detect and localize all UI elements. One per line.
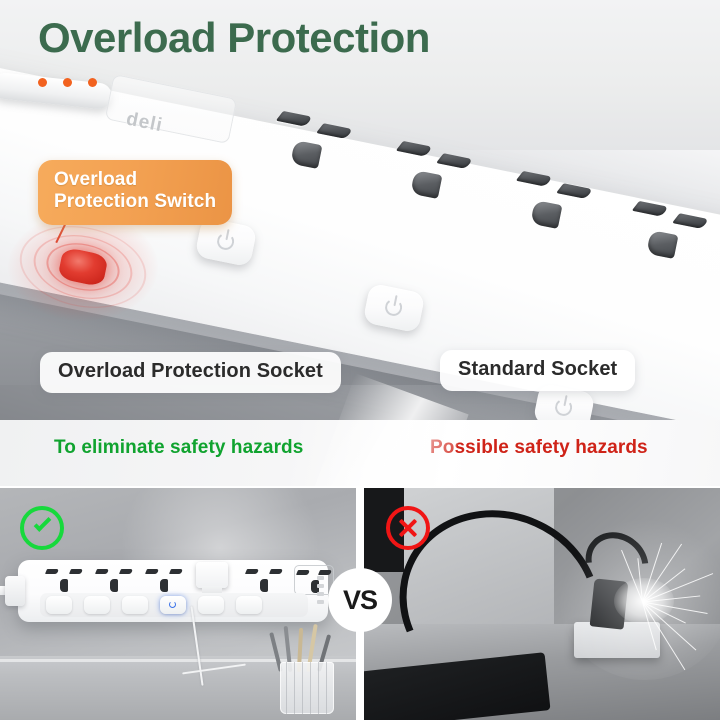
mini-switch-1[interactable] (46, 596, 72, 614)
mini-socket-6 (294, 565, 334, 595)
callout-line-2: Protection Switch (54, 191, 216, 213)
mini-socket-5 (244, 565, 284, 595)
socket-slot-center (530, 200, 562, 229)
accent-dot-3 (88, 78, 97, 87)
usb-port-3 (317, 592, 324, 596)
comparison-panel-safe (0, 488, 356, 720)
socket-slot-center (410, 170, 442, 199)
caption-eliminate-hazards: To eliminate safety hazards (54, 437, 303, 459)
socket-slot-right (436, 153, 473, 169)
check-circle-icon (20, 506, 64, 550)
infographic-page: deli (0, 0, 720, 720)
mini-socket-2 (94, 565, 134, 595)
caption-possible-hazards: Possible safety hazards (430, 437, 648, 459)
socket-slot-center (290, 140, 322, 169)
comparison-panel-hazard (364, 488, 720, 720)
pencil-cup (280, 662, 334, 714)
vs-label: VS (343, 585, 377, 616)
socket-slot-center (646, 230, 678, 259)
vs-badge: VS (328, 568, 392, 632)
mini-switch-3[interactable] (122, 596, 148, 614)
callout-line-1: Overload (54, 169, 216, 191)
socket-slot-right (316, 123, 353, 139)
accent-dots (38, 78, 97, 87)
accent-dot-1 (38, 78, 47, 87)
caption-band: To eliminate safety hazards Possible saf… (0, 420, 720, 486)
socket-slot-right (672, 213, 709, 229)
mini-socket-3 (144, 565, 184, 595)
accent-dot-2 (63, 78, 72, 87)
overload-protection-indicator[interactable] (18, 214, 148, 320)
mini-switch-6[interactable] (236, 596, 262, 614)
usb-port-4 (317, 600, 324, 604)
inserted-plug (196, 562, 228, 588)
hero-product-photo: deli (0, 0, 720, 420)
label-overload-protection-socket: Overload Protection Socket (40, 352, 341, 393)
label-standard-socket: Standard Socket (440, 350, 635, 391)
usb-port-group (317, 576, 324, 604)
socket-row (44, 565, 334, 595)
mini-switch-4-active[interactable] (160, 596, 186, 614)
mini-socket-1 (44, 565, 84, 595)
wall-mounted-power-strip (18, 560, 328, 622)
socket-slot-right (556, 183, 593, 199)
usb-port-1 (317, 576, 324, 580)
page-title: Overload Protection (38, 14, 430, 62)
mini-switch-5[interactable] (198, 596, 224, 614)
power-strip-end-cap (5, 576, 25, 606)
usb-port-2 (317, 584, 324, 588)
x-circle-icon (386, 506, 430, 550)
overload-switch-callout: Overload Protection Switch (38, 160, 232, 225)
switch-row (40, 593, 308, 617)
mini-switch-2[interactable] (84, 596, 110, 614)
